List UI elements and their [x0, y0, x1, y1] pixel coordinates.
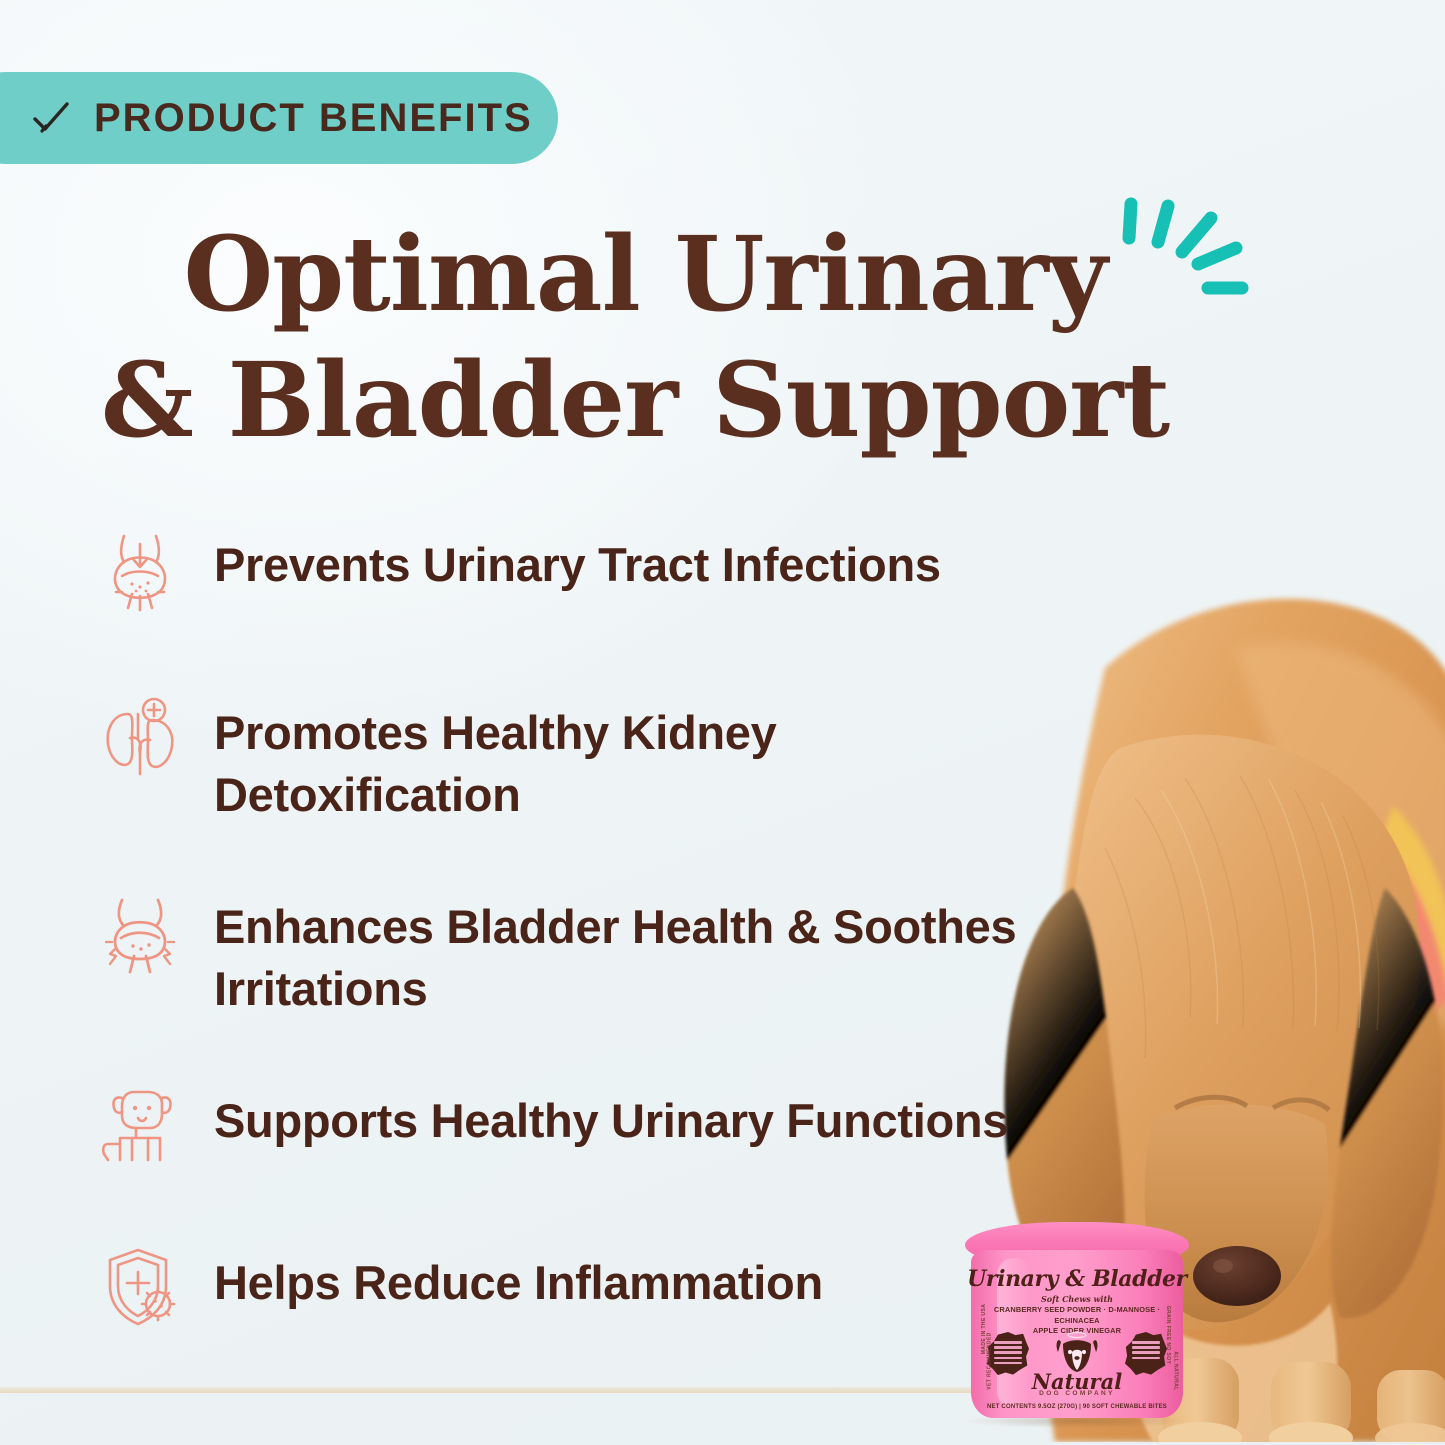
headline-line-1: Optimal Urinary [0, 212, 1260, 338]
benefit-row: Helps Reduce Inflammation [92, 1238, 1092, 1346]
net-contents: NET CONTENTS 9.5OZ (270G) | 90 SOFT CHEW… [963, 1404, 1191, 1410]
benefit-row: Supports Healthy Urinary Functions [92, 1076, 1092, 1184]
bladder-arrow-icon [92, 520, 188, 616]
sparkle-icon [1118, 196, 1258, 316]
benefit-row: Promotes Healthy Kidney Detoxification [92, 688, 1092, 826]
benefit-label: Prevents Urinary Tract Infections [214, 520, 941, 596]
shield-germ-icon [92, 1238, 188, 1334]
jar-side-text-right-2: ALL NATURAL [1172, 1351, 1178, 1390]
benefit-label: Supports Healthy Urinary Functions [214, 1076, 1008, 1152]
dog-nose [1193, 1246, 1281, 1306]
benefit-row: Enhances Bladder Health & Soothes Irrita… [92, 882, 1092, 1020]
bladder-soothe-icon [92, 882, 188, 978]
jar-side-text-left-2: VET RECOMMENDED [987, 1332, 993, 1389]
page-title: Optimal Urinary & Bladder Support [0, 212, 1260, 463]
product-label-title: Urinary & Bladder [963, 1266, 1191, 1292]
product-label-subtitle: Soft Chews with [963, 1294, 1191, 1304]
headline-line-2: & Bladder Support [0, 338, 1260, 464]
benefit-label: Helps Reduce Inflammation [214, 1238, 823, 1314]
badge-label: PRODUCT BENEFITS [94, 96, 533, 141]
kidney-plus-icon [92, 688, 188, 784]
check-icon [30, 97, 72, 139]
brand-subtitle: DOG COMPANY [963, 1390, 1191, 1397]
benefit-label: Promotes Healthy Kidney Detoxification [214, 688, 1064, 826]
benefit-row: Prevents Urinary Tract Infections [92, 520, 1092, 628]
dog-icon [92, 1076, 188, 1172]
product-benefits-graphic: PRODUCT BENEFITS Optimal Urinary & Bladd… [0, 0, 1445, 1445]
product-benefits-badge: PRODUCT BENEFITS [0, 72, 558, 164]
jar-side-text-right-1: GRAIN FREE NO SOY [1165, 1306, 1171, 1364]
ingredients-line-1: CRANBERRY SEED POWDER · D-MANNOSE · ECHI… [994, 1305, 1160, 1325]
benefit-label: Enhances Bladder Health & Soothes Irrita… [214, 882, 1064, 1020]
benefits-list: Prevents Urinary Tract Infections Promot… [92, 520, 1092, 1346]
product-jar: Urinary & Bladder Soft Chews with CRANBE… [963, 1222, 1191, 1422]
